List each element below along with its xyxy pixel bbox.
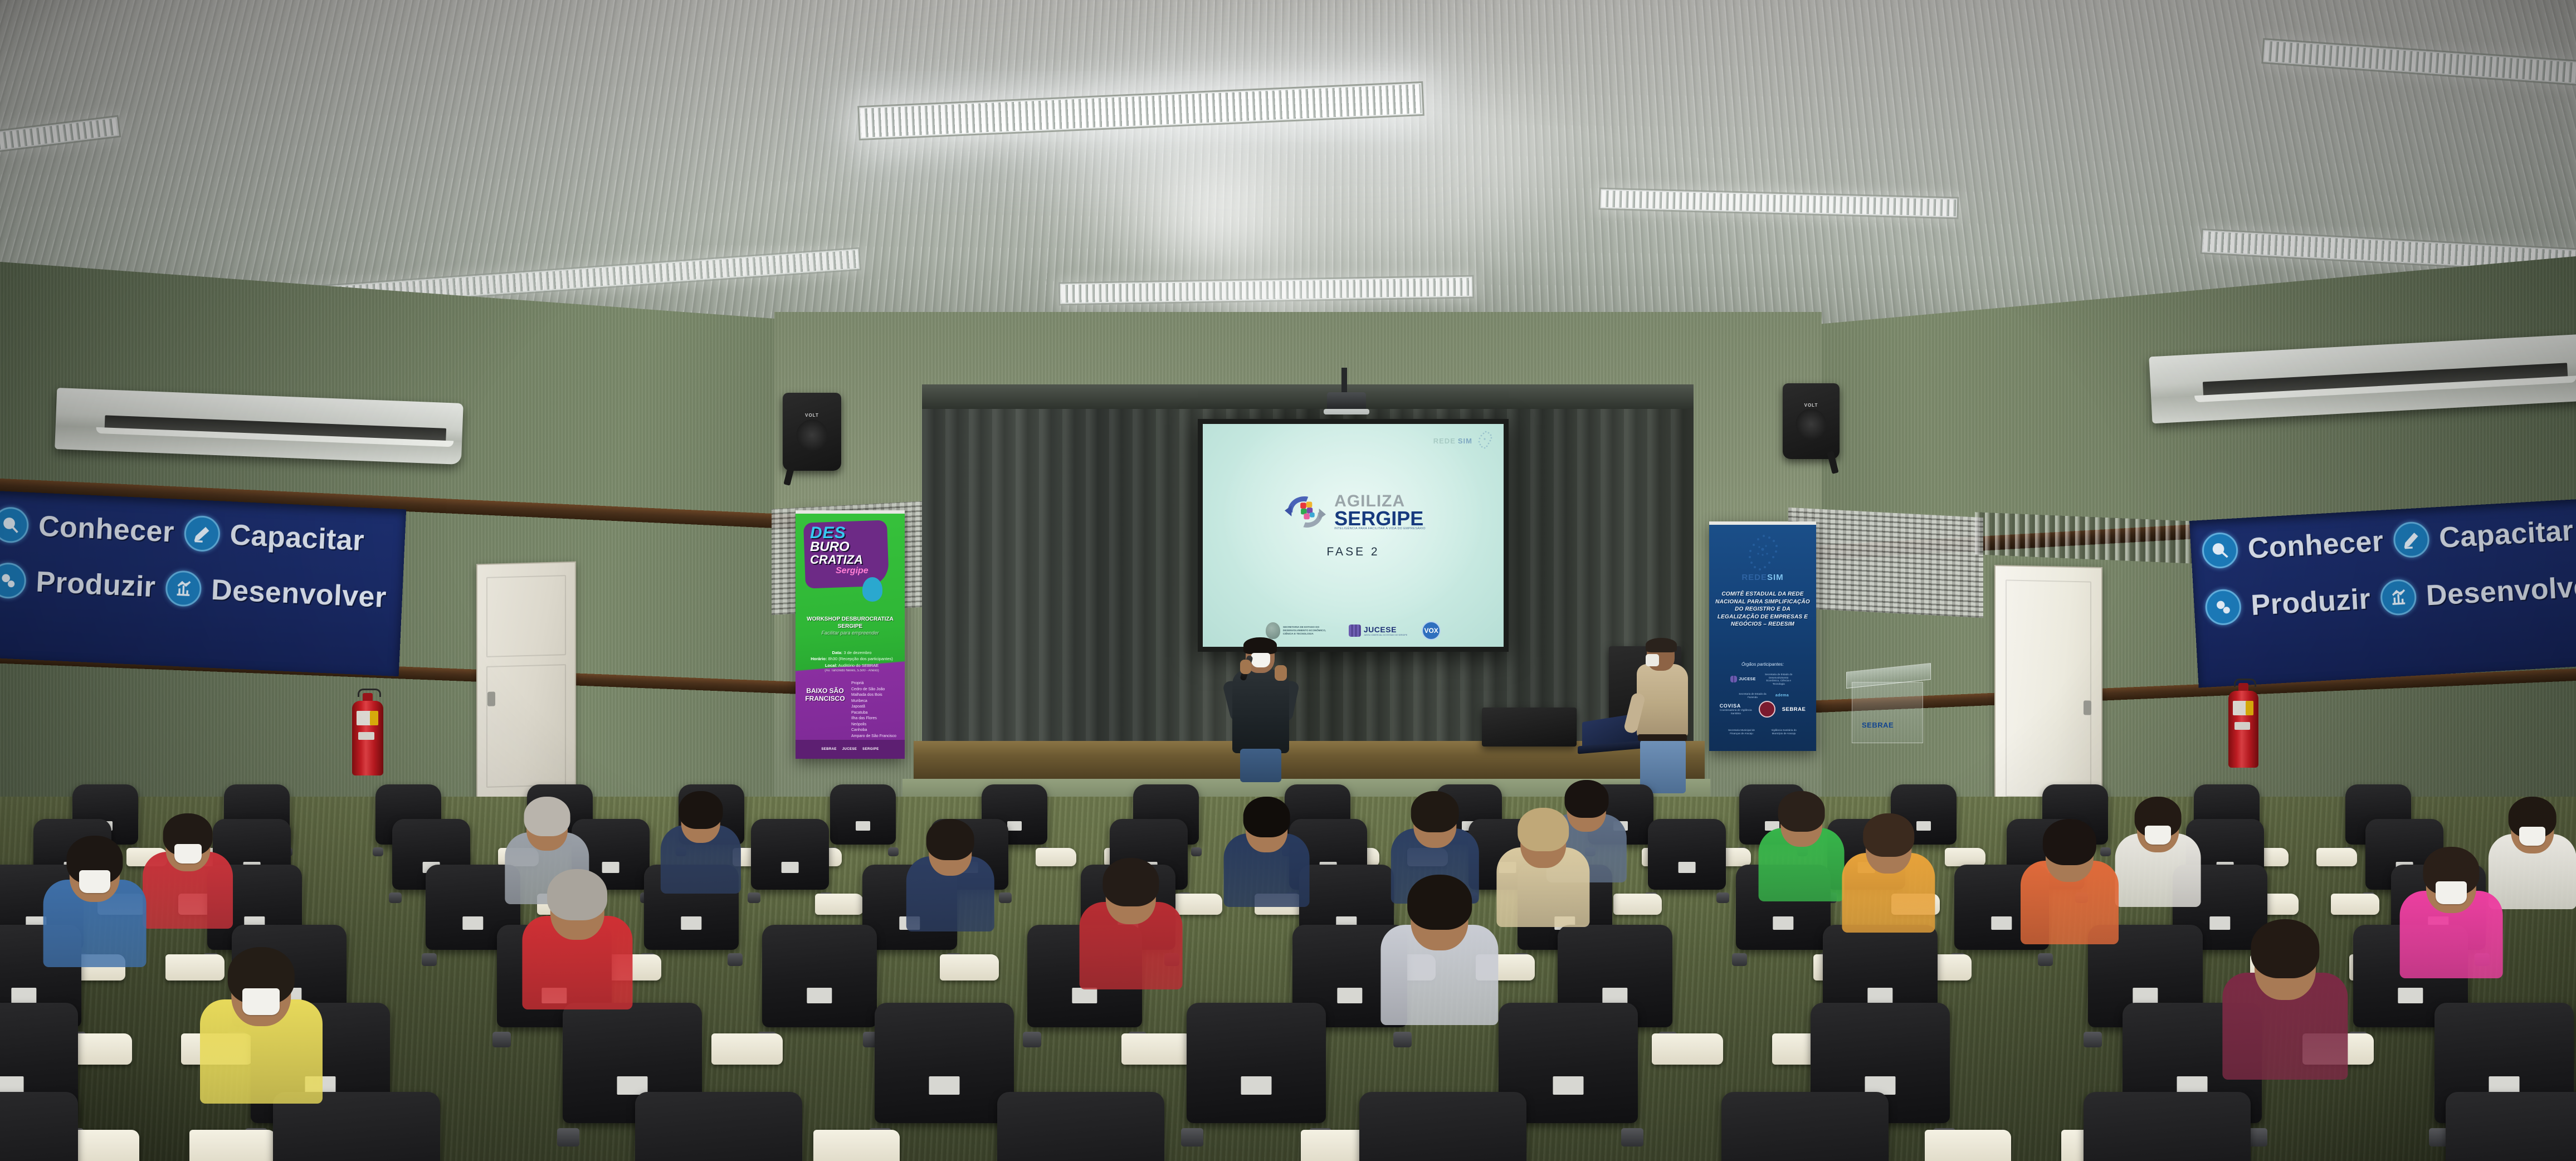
face-mask-icon (242, 988, 280, 1015)
audience-member (1220, 797, 1313, 919)
chair-armrest (492, 1032, 511, 1047)
audience-seating-area (0, 0, 2576, 1161)
audience-hair (2251, 919, 2319, 978)
chair-armrest (557, 1128, 579, 1147)
chair-asset-tag (1991, 916, 2012, 929)
auditorium-chair[interactable] (875, 1003, 1014, 1161)
chair-writing-tablet[interactable] (940, 954, 998, 980)
chair-asset-tag (2133, 988, 2158, 1003)
audience-hair (679, 791, 723, 829)
chair-armrest (2084, 1032, 2102, 1047)
audience-member (139, 813, 237, 942)
chair-asset-tag (1773, 916, 1793, 929)
audience-member (1075, 858, 1187, 1004)
chair-writing-tablet[interactable] (711, 1033, 783, 1065)
chair-asset-tag (1007, 821, 1022, 831)
chair-armrest (373, 847, 383, 857)
audience-hair (1518, 808, 1569, 851)
audience-hair (1102, 858, 1159, 906)
chair-writing-tablet[interactable] (1652, 1033, 1723, 1065)
auditorium-chair[interactable] (1648, 819, 1726, 917)
chair-asset-tag (681, 916, 701, 929)
audience-hair (1863, 813, 1915, 857)
auditorium-chair[interactable] (751, 819, 829, 917)
chair-writing-tablet[interactable] (1925, 1130, 2011, 1161)
audience-member (1838, 813, 1939, 946)
chair-asset-tag (1867, 988, 1892, 1003)
audience-member (902, 819, 998, 944)
audience-member (2396, 847, 2507, 993)
chair-armrest (1181, 1128, 1203, 1147)
chair-back (1648, 819, 1726, 890)
chair-writing-tablet[interactable] (1613, 894, 1662, 915)
chair-writing-tablet[interactable] (1121, 1033, 1193, 1065)
audience-member (2017, 819, 2123, 958)
chair-back (1187, 1003, 1326, 1123)
auditorium-chair[interactable] (997, 1092, 1164, 1161)
chair-armrest (1023, 1032, 1041, 1047)
chair-asset-tag (1553, 1076, 1584, 1095)
chair-armrest (1191, 847, 1202, 857)
chair-writing-tablet[interactable] (2316, 848, 2357, 866)
chair-writing-tablet[interactable] (1036, 848, 1076, 866)
face-mask-icon (174, 844, 202, 864)
audience-member (1493, 808, 1594, 940)
chair-back (1359, 1092, 1526, 1161)
chair-asset-tag (807, 988, 832, 1003)
auditorium-chair[interactable] (2084, 1092, 2251, 1161)
chair-asset-tag (1337, 988, 1362, 1003)
audience-hair (2043, 819, 2096, 865)
chair-armrest (1621, 1128, 1643, 1147)
audience-hair (1411, 791, 1459, 832)
chair-writing-tablet[interactable] (815, 894, 863, 915)
audience-member (518, 869, 637, 1025)
audience-member (657, 791, 744, 905)
chair-asset-tag (782, 862, 799, 872)
audience-member (2111, 797, 2204, 919)
audience-hair (926, 819, 974, 860)
audience-member (1755, 791, 1848, 914)
chair-armrest (1716, 892, 1729, 903)
auditorium-chair[interactable] (0, 1092, 78, 1161)
audience-hair (1778, 791, 1825, 832)
chair-asset-tag (11, 988, 36, 1003)
audience-hair (547, 869, 607, 920)
auditorium-chair[interactable] (1721, 1092, 1889, 1161)
audience-hair (1243, 797, 1290, 837)
auditorium-chair[interactable] (1187, 1003, 1326, 1161)
chair-writing-tablet[interactable] (1945, 848, 1985, 866)
chair-asset-tag (1602, 988, 1627, 1003)
chair-back (875, 1003, 1014, 1123)
chair-armrest (389, 892, 401, 903)
face-mask-icon (2519, 827, 2546, 846)
audience-hair (524, 797, 570, 836)
chair-back (830, 784, 896, 845)
auditorium-chair[interactable] (635, 1092, 802, 1161)
chair-back (1721, 1092, 1889, 1161)
chair-armrest (1732, 953, 1747, 966)
chair-back (635, 1092, 802, 1161)
chair-armrest (999, 892, 1011, 903)
audience-member (1376, 875, 1503, 1042)
chair-back (2084, 1092, 2251, 1161)
chair-writing-tablet[interactable] (2331, 894, 2379, 915)
chair-asset-tag (929, 1076, 960, 1095)
auditorium-chair[interactable] (762, 925, 877, 1067)
auditorium-chair[interactable] (2446, 1092, 2576, 1161)
auditorium-chair[interactable] (830, 784, 896, 868)
chair-back (762, 925, 877, 1027)
chair-armrest (888, 847, 899, 857)
chair-back (751, 819, 829, 890)
audience-member (2217, 919, 2353, 1097)
chair-armrest (422, 953, 437, 966)
audience-hair (1407, 875, 1472, 930)
chair-armrest (748, 892, 760, 903)
chair-back (2446, 1092, 2576, 1161)
chair-back (0, 1092, 78, 1161)
auditorium-chair[interactable] (1359, 1092, 1526, 1161)
face-mask-icon (2145, 826, 2171, 845)
chair-asset-tag (856, 821, 870, 831)
auditorium-photo: Conhecer Capacitar Produzir Desenvolver … (0, 0, 2576, 1161)
chair-asset-tag (1679, 862, 1696, 872)
chair-writing-tablet[interactable] (813, 1130, 900, 1161)
chair-asset-tag (1241, 1076, 1272, 1095)
chair-writing-tablet[interactable] (189, 1130, 276, 1161)
chair-asset-tag (462, 916, 483, 929)
face-mask-icon (79, 870, 110, 892)
chair-back (997, 1092, 1164, 1161)
audience-member (39, 836, 150, 982)
chair-armrest (728, 953, 743, 966)
face-mask-icon (2436, 881, 2467, 904)
audience-member (195, 947, 328, 1121)
